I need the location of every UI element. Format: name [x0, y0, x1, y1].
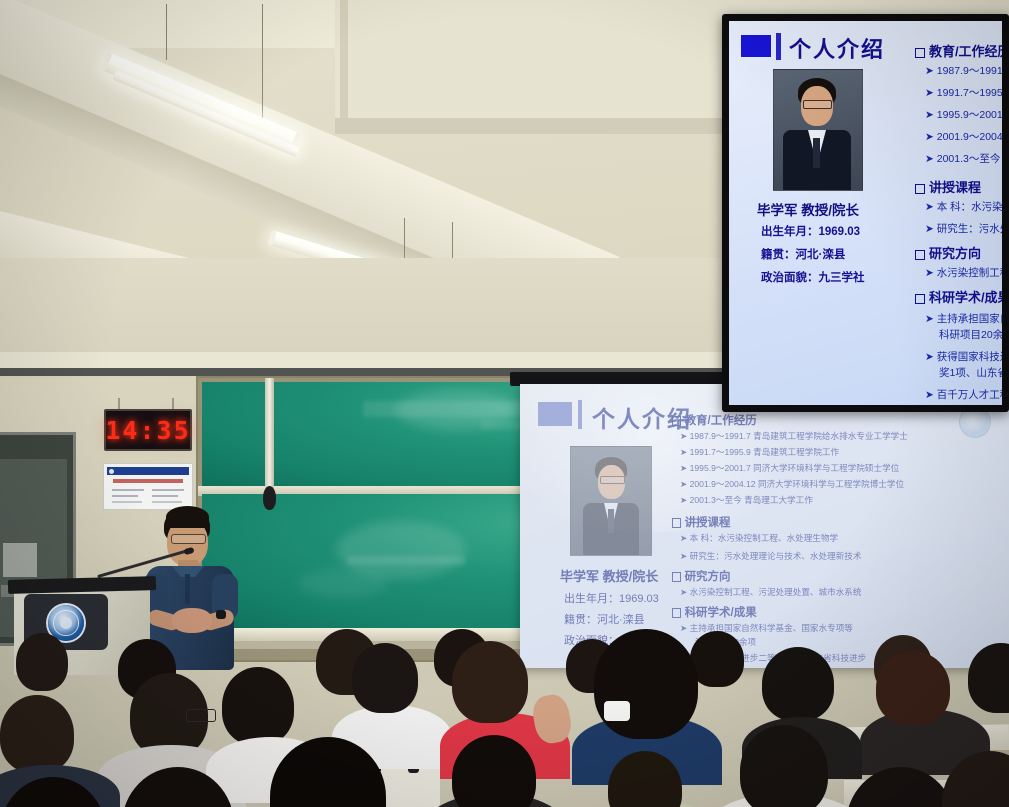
clock-time-display: 14:35 [105, 416, 190, 445]
tv-slide-meta: 出生年月：1969.03 [761, 223, 860, 239]
blackboard-slide-track[interactable] [265, 378, 274, 490]
notice-board-line [152, 501, 182, 503]
tv-slide-accent-block [741, 35, 771, 57]
audience-head [222, 667, 294, 745]
audience-head [690, 631, 744, 687]
tv-section-item: ➤2001.3～至今 青岛理工大学工作 [925, 151, 1002, 166]
tv-section-item: ➤百千万人才工程国家级人选 [925, 387, 1002, 402]
bullet-box-icon [915, 294, 925, 304]
projected-section-item: ➤1991.7～1995.9 青岛建筑工程学院工作 [680, 446, 839, 458]
portrait-tie [813, 138, 820, 168]
audience-head [740, 725, 828, 807]
tv-section-item: ➤1987.9～1991.7 青岛建筑工程学院给水排水专业工学学士 [925, 63, 1002, 78]
presenter-shirt-placket [185, 574, 190, 604]
tv-slide-portrait [773, 69, 863, 191]
tv-section-heading: 研究方向 [915, 243, 981, 262]
bullet-arrow-icon: ➤ [680, 447, 687, 458]
bullet-arrow-icon: ➤ [680, 479, 687, 490]
projected-section-heading: 教育/工作经历 [672, 412, 757, 428]
bullet-box-icon [915, 184, 925, 194]
audience-head [594, 629, 698, 739]
digital-wall-clock: 14:35 [104, 409, 192, 451]
cabinet-notice-sheet [3, 543, 37, 577]
bullet-box-icon [915, 48, 925, 58]
tv-section-item: ➤2001.9～2004.12 同济大学环境科学与工程学院博士学位 [925, 129, 1002, 144]
notice-board-logo-icon [109, 469, 114, 474]
bullet-arrow-icon: ➤ [680, 551, 687, 562]
presenter-hair-top [166, 506, 209, 528]
tv-section-item: 奖1项、山东省高校优秀科研成果奖 [939, 365, 1002, 380]
wall-mounted-tv: 个人介绍 毕学军 教授/院长 出生年月：1969.03 籍贯：河北·滦县 政治面… [722, 14, 1009, 412]
projected-section-item: ➤水污染控制工程、污泥处理处置、城市水系统 [680, 586, 862, 598]
tv-display: 个人介绍 毕学军 教授/院长 出生年月：1969.03 籍贯：河北·滦县 政治面… [729, 21, 1002, 405]
projected-section-item: ➤1995.9～2001.7 同济大学环境科学与工程学院硕士学位 [680, 462, 899, 474]
audience-hair-clip-icon [604, 701, 630, 721]
projected-section-heading: 研究方向 [672, 568, 731, 584]
bullet-arrow-icon: ➤ [925, 223, 934, 235]
projected-section-item: ➤研究生：污水处理理论与技术、水处理新技术 [680, 550, 862, 562]
notice-board-line [112, 489, 144, 491]
bullet-arrow-icon: ➤ [925, 351, 934, 363]
notice-board-line [152, 489, 184, 491]
tv-slide-speaker-name: 毕学军 教授/院长 [757, 199, 859, 219]
bullet-arrow-icon: ➤ [925, 87, 934, 99]
lecture-hall-photo: 14:35 [0, 0, 1009, 807]
bullet-box-icon [915, 250, 925, 260]
bullet-arrow-icon: ➤ [925, 131, 934, 143]
bullet-box-icon [672, 518, 681, 527]
portrait-glasses [600, 476, 625, 484]
tv-section-heading: 讲授课程 [915, 177, 981, 196]
portrait-glasses [803, 100, 832, 109]
bullet-arrow-icon: ➤ [680, 587, 687, 598]
projected-slide-accent-block [538, 402, 572, 426]
bullet-arrow-icon: ➤ [925, 109, 934, 121]
wall-trim-band [0, 352, 740, 368]
notice-board-header [107, 467, 189, 475]
bullet-arrow-icon: ➤ [925, 313, 934, 325]
tv-section-heading: 教育/工作经历 [915, 41, 1002, 60]
classroom-notice-board[interactable] [103, 463, 193, 510]
bullet-arrow-icon: ➤ [680, 431, 687, 442]
tv-section-item: 科研项目20余项 [939, 327, 1002, 342]
bullet-arrow-icon: ➤ [925, 267, 934, 279]
projected-section-item: ➤本 科：水污染控制工程、水处理生物学 [680, 532, 838, 544]
light-hanger-wire-1 [166, 4, 167, 60]
light-hanger-wire-2 [262, 4, 263, 124]
projected-slide-accent-bar [578, 400, 582, 429]
tv-slide: 个人介绍 毕学军 教授/院长 出生年月：1969.03 籍贯：河北·滦县 政治面… [729, 21, 1002, 405]
projected-slide-speaker-name: 毕学军 教授/院长 [560, 566, 658, 585]
bullet-arrow-icon: ➤ [680, 533, 687, 544]
bullet-arrow-icon: ➤ [925, 153, 934, 165]
bullet-box-icon [672, 416, 681, 425]
tv-section-item: ➤本 科：水污染控制工程、水处理生物学 [925, 199, 1002, 214]
audience-glasses-icon [186, 709, 216, 722]
tv-section-item: ➤1991.7～1995.9 青岛建筑工程学院工作 [925, 85, 1002, 100]
blackboard-slide-handle[interactable] [263, 486, 276, 510]
tv-section-item: ➤研究生：污水处理理论与技术、水处理新技术 [925, 221, 1002, 236]
projected-section-item: ➤2001.3～至今 青岛理工大学工作 [680, 494, 813, 506]
audience-head [968, 643, 1009, 713]
notice-board-line [112, 501, 142, 503]
tv-slide-meta: 政治面貌：九三学社 [761, 269, 865, 285]
light-hanger-wire-3 [404, 218, 405, 260]
bullet-box-icon [672, 572, 681, 581]
audience-head [876, 651, 950, 725]
audience-head [452, 641, 528, 723]
audience-head [0, 695, 74, 773]
notice-board-line [112, 495, 138, 497]
bullet-arrow-icon: ➤ [925, 201, 934, 213]
notice-board-line [152, 495, 178, 497]
tv-section-heading: 科研学术/成果 [915, 287, 1002, 306]
audience-head [352, 643, 418, 713]
audience-head [16, 633, 68, 691]
bullet-arrow-icon: ➤ [680, 495, 687, 506]
tv-section-item: ➤1995.9～2001.7 同济大学环境科学与工程学院硕士学位 [925, 107, 1002, 122]
tv-slide-meta: 籍贯：河北·滦县 [761, 246, 845, 262]
tv-slide-heading: 个人介绍 [789, 32, 885, 64]
projected-section-heading: 讲授课程 [672, 514, 731, 530]
presenter-glasses [171, 534, 206, 544]
tv-section-item: ➤水污染控制工程、污泥处理处置、城市水系统 [925, 265, 1002, 280]
audience-head [762, 647, 834, 721]
audience [0, 617, 1009, 807]
projected-section-item: ➤2001.9～2004.12 同济大学环境科学与工程学院博士学位 [680, 478, 904, 490]
projected-slide-meta: 出生年月：1969.03 [564, 590, 659, 606]
bullet-arrow-icon: ➤ [925, 65, 934, 77]
portrait-tie [608, 509, 614, 533]
tv-slide-accent-bar [776, 33, 781, 60]
tv-section-item: ➤主持承担国家自然科学基金、国家水专项等 [925, 311, 1002, 326]
ceiling-beam-vertical-right [340, 0, 348, 128]
tv-section-item: ➤获得国家科技进步二等奖1项、山东省科技进步 [925, 349, 1002, 364]
projected-slide-portrait [570, 446, 652, 556]
bullet-arrow-icon: ➤ [925, 389, 934, 401]
projected-section-item: ➤1987.9～1991.7 青岛建筑工程学院给水排水专业工学学士 [680, 430, 908, 442]
bullet-arrow-icon: ➤ [680, 463, 687, 474]
notice-board-title [113, 479, 183, 483]
